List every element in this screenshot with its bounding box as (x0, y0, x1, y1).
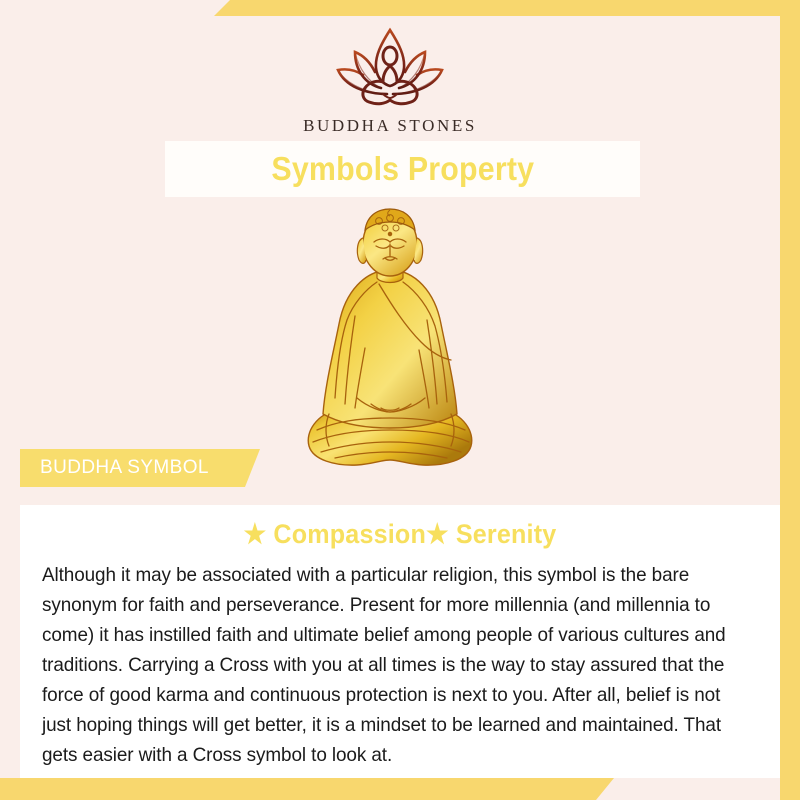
content-panel: ★ Compassion★ Serenity Although it may b… (20, 505, 780, 778)
title-band: Symbols Property (165, 141, 640, 197)
content-body-text: Although it may be associated with a par… (42, 560, 737, 770)
ribbon-label: BUDDHA SYMBOL (40, 457, 209, 479)
brand-name: BUDDHA STONES (303, 116, 477, 136)
seated-buddha-illustration (295, 208, 485, 490)
hero-image-container (0, 205, 780, 490)
poster-canvas: BUDDHA STONES Symbols Property (0, 0, 800, 800)
lotus-meditation-icon (325, 24, 455, 112)
decorative-right-bar (780, 0, 800, 800)
content-subheading: ★ Compassion★ Serenity (67, 519, 733, 550)
page-title: Symbols Property (271, 150, 534, 188)
decorative-top-bar (214, 0, 800, 16)
brand-header: BUDDHA STONES (0, 24, 780, 136)
buddha-symbol-ribbon: BUDDHA SYMBOL (20, 449, 260, 487)
decorative-bottom-bar (0, 778, 614, 800)
